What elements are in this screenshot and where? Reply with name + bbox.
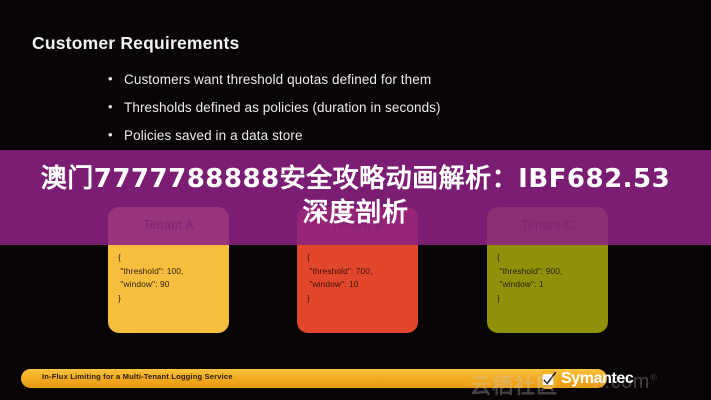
list-item: Customers want threshold quotas defined … — [108, 72, 628, 87]
watermark-domain-sup: ® — [650, 372, 657, 382]
overlay-banner-text: 澳门7777788888安全攻略动画解析：IBF682.53深度剖析 — [36, 162, 676, 230]
overlay-banner: 澳门7777788888安全攻略动画解析：IBF682.53深度剖析 — [0, 150, 711, 245]
checkmark-shield-icon — [538, 369, 558, 389]
tenant-card-c-policy-json: { "threshold": 900, "window": 1 } — [497, 251, 602, 305]
screenshot-root: Customer Requirements Customers want thr… — [0, 0, 711, 400]
requirements-bullet-list: Customers want threshold quotas defined … — [108, 72, 628, 156]
list-item: Policies saved in a data store — [108, 128, 628, 143]
list-item: Thresholds defined as policies (duration… — [108, 100, 628, 115]
tenant-card-b-policy-json: { "threshold": 700, "window": 10 } — [307, 251, 412, 305]
tenant-card-a-policy-json: { "threshold": 100, "window": 90 } — [118, 251, 223, 305]
page-title: Customer Requirements — [32, 33, 239, 54]
slide-footer-bar: In-Flux Limiting for a Multi-Tenant Logg… — [21, 369, 607, 388]
symantec-logo: Symantec — [538, 368, 633, 390]
symantec-wordmark: Symantec — [561, 371, 633, 387]
slide-footer-label: In-Flux Limiting for a Multi-Tenant Logg… — [42, 372, 233, 381]
